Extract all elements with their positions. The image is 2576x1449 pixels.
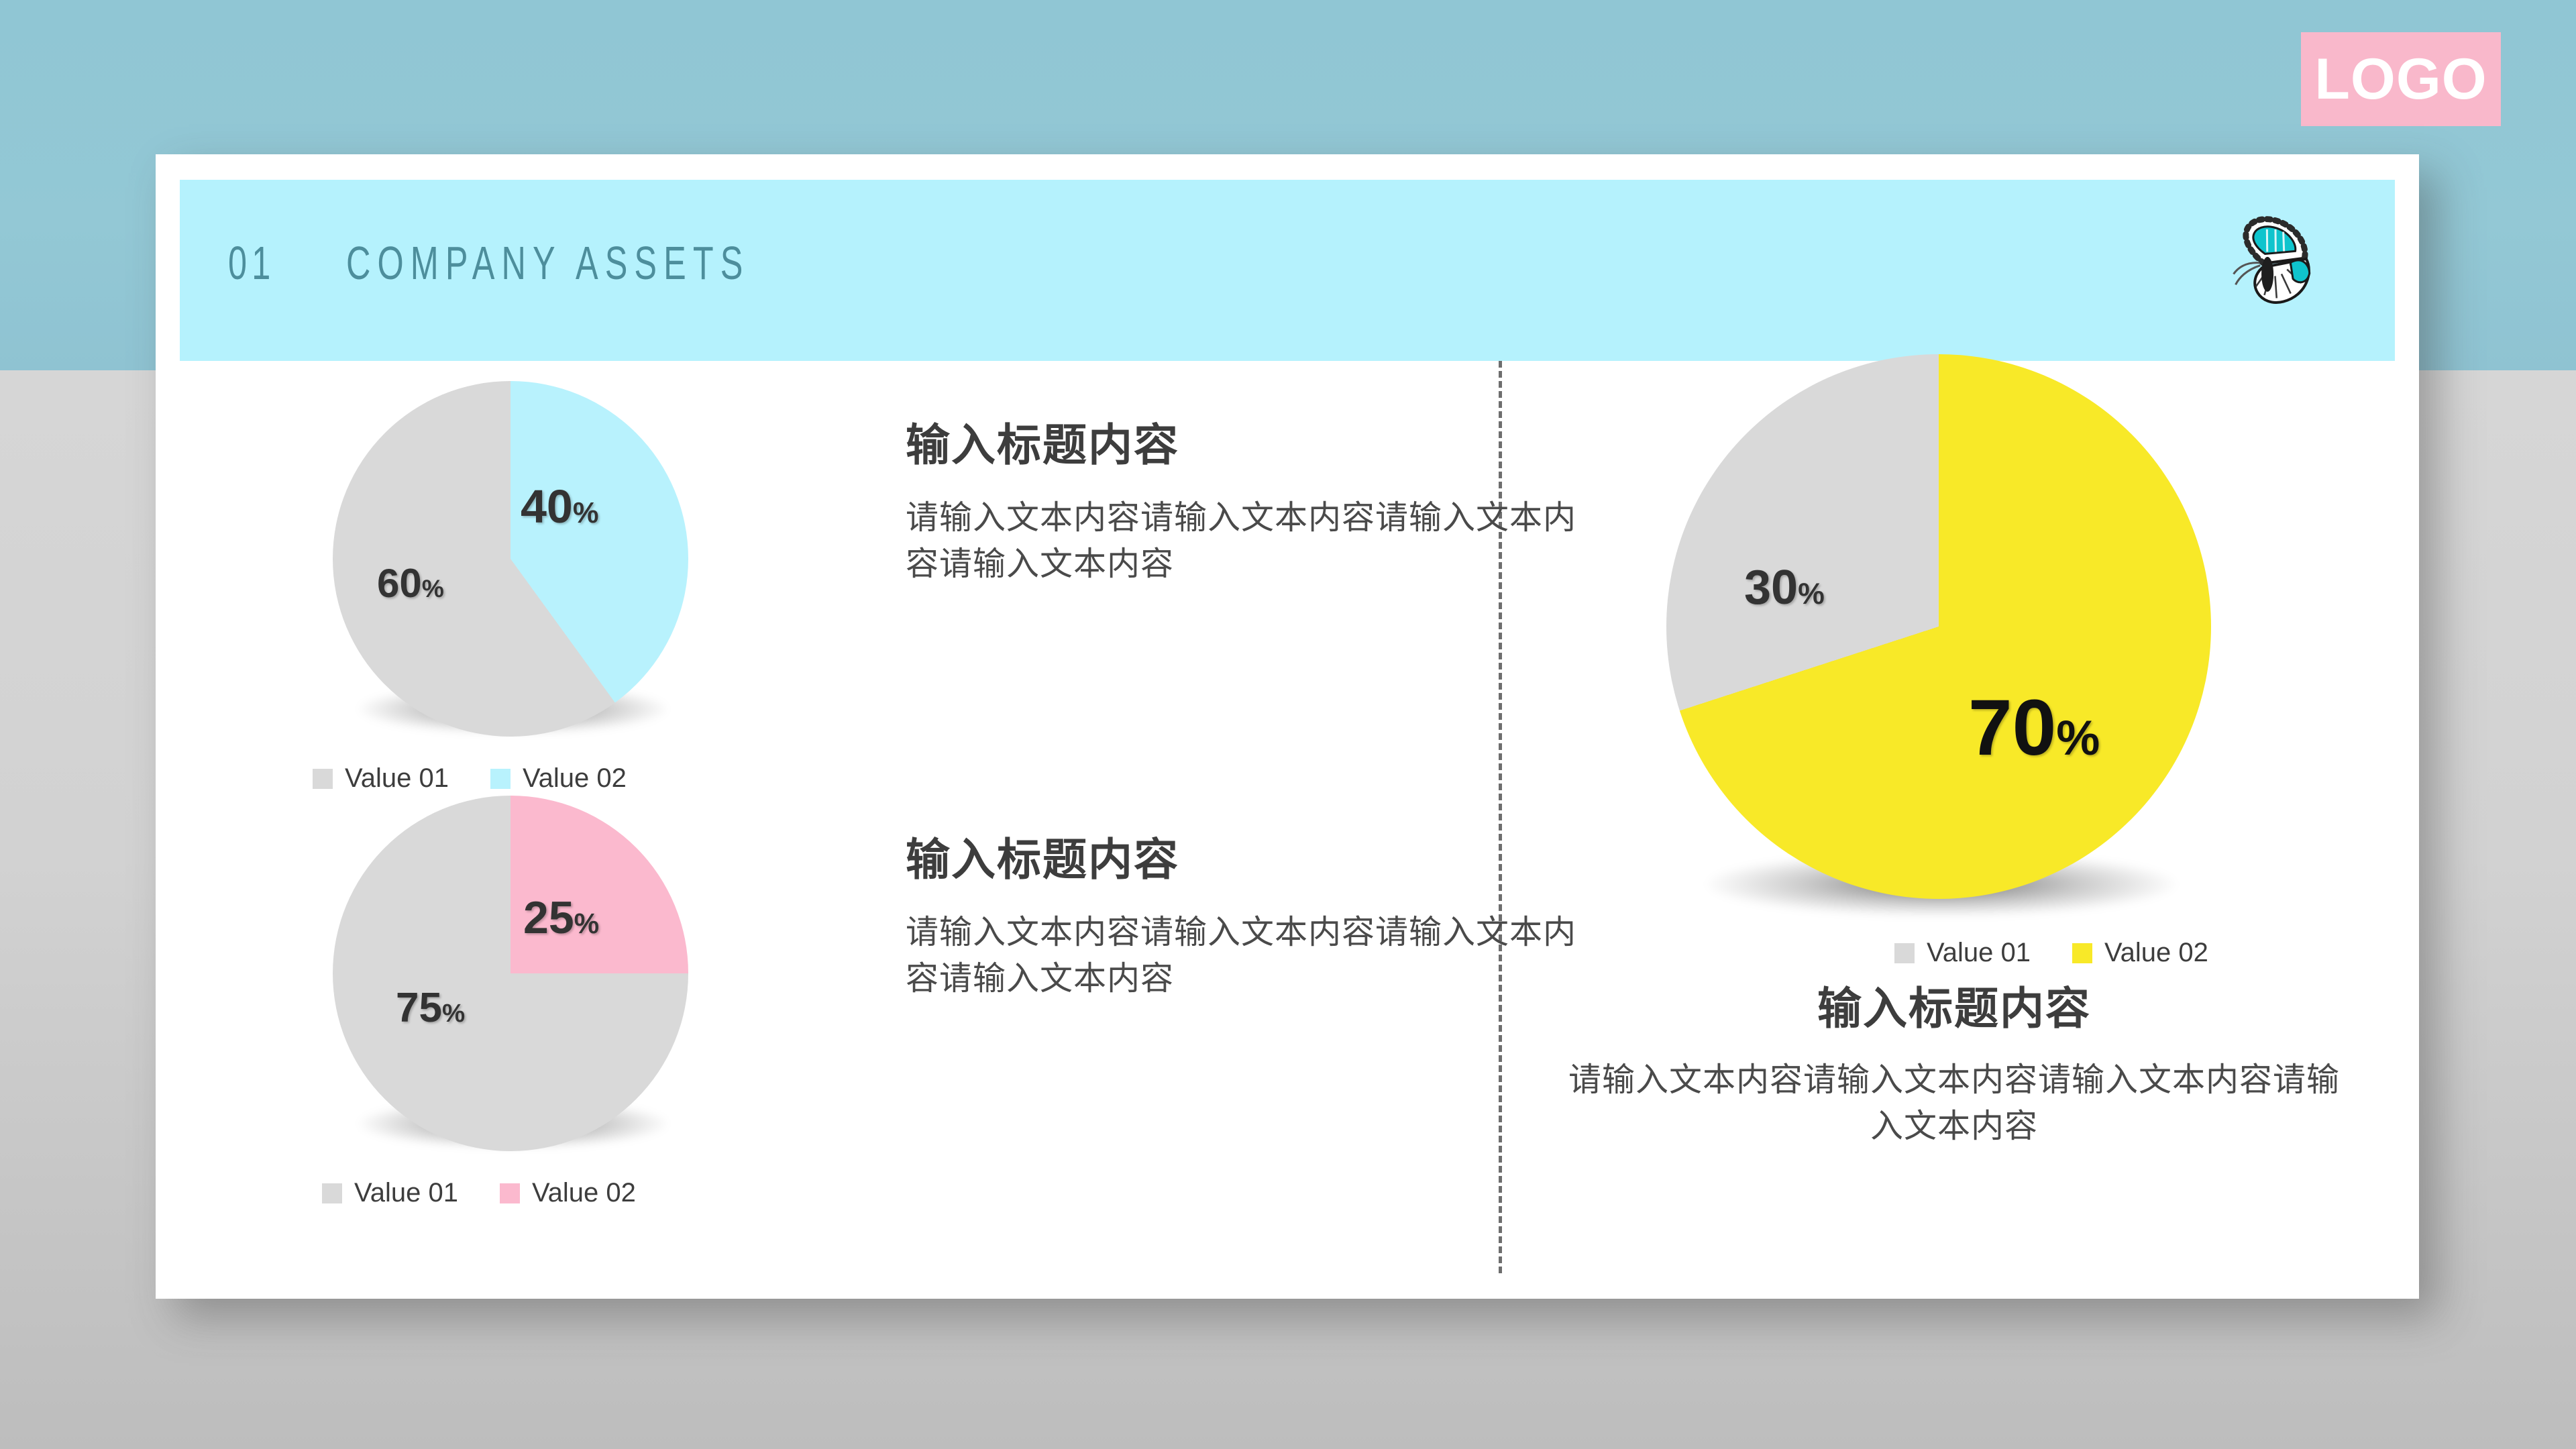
text-block-body: 请输入文本内容请输入文本内容请输入文本内容请输入文本内容 (906, 494, 1590, 588)
pie-legend-right-large: Value 01 Value 02 (1894, 938, 2208, 968)
pie-slice-label-value01: 60% (377, 563, 444, 604)
legend-label-value02: Value 02 (2104, 938, 2208, 968)
legend-swatch-value01 (313, 769, 333, 789)
text-block-body: 请输入文本内容请输入文本内容请输入文本内容请输入文本内容 (1555, 1057, 2353, 1150)
text-block-title: 输入标题内容 (906, 836, 1590, 885)
legend-item-value01[interactable]: Value 01 (322, 1178, 458, 1208)
pie-slice-label-value02: 25% (523, 895, 599, 941)
legend-label-value01: Value 01 (345, 763, 449, 794)
pie-chart-top-left: 40% 60% (333, 381, 695, 743)
pie-chart-bottom-left: 25% 75% (333, 796, 695, 1158)
legend-swatch-value01 (322, 1183, 342, 1203)
butterfly-icon (2203, 195, 2337, 329)
section-number: 01 (228, 236, 275, 290)
legend-label-value01: Value 01 (1927, 938, 2031, 968)
legend-item-value01[interactable]: Value 01 (313, 763, 449, 794)
pie-slice-unit: % (573, 497, 599, 529)
pie-slice-value: 25 (523, 892, 574, 943)
text-block-right: 输入标题内容 请输入文本内容请输入文本内容请输入文本内容请输入文本内容 (1555, 985, 2353, 1150)
pie-slice-label-value02: 40% (521, 483, 598, 530)
text-block-body: 请输入文本内容请输入文本内容请输入文本内容请输入文本内容 (906, 909, 1590, 1002)
legend-swatch-value02 (490, 769, 511, 789)
pie-slice-unit: % (574, 908, 599, 939)
legend-swatch-value01 (1894, 943, 1915, 963)
text-block-title: 输入标题内容 (906, 421, 1590, 470)
legend-label-value01: Value 01 (354, 1178, 458, 1208)
pie-graphic (333, 381, 688, 737)
legend-label-value02: Value 02 (532, 1178, 636, 1208)
legend-item-value02[interactable]: Value 02 (2072, 938, 2208, 968)
pie-slice-value: 40 (521, 480, 573, 533)
pie-slice-value: 75 (396, 985, 442, 1031)
text-block-bottom-left: 输入标题内容 请输入文本内容请输入文本内容请输入文本内容请输入文本内容 (906, 836, 1590, 1002)
pie-slice-unit: % (422, 574, 444, 602)
slide-card: 01 COMPANY ASSETS (156, 154, 2419, 1299)
legend-swatch-value02 (500, 1183, 520, 1203)
text-block-top-left: 输入标题内容 请输入文本内容请输入文本内容请输入文本内容请输入文本内容 (906, 421, 1590, 588)
pie-slice-label-value01: 30% (1744, 563, 1825, 612)
pie-slice-unit: % (1798, 578, 1825, 610)
logo-badge: LOGO (2301, 32, 2501, 126)
section-header-bar: 01 COMPANY ASSETS (180, 180, 2395, 361)
legend-item-value02[interactable]: Value 02 (500, 1178, 636, 1208)
pie-slice-unit: % (2056, 710, 2100, 765)
legend-swatch-value02 (2072, 943, 2092, 963)
legend-item-value01[interactable]: Value 01 (1894, 938, 2031, 968)
slide-body: 40% 60% Value 01 Value 02 输入标题内容 (180, 361, 2395, 1273)
pie-legend-bottom-left: Value 01 Value 02 (322, 1178, 636, 1208)
logo-text: LOGO (2314, 50, 2487, 108)
pie-slice-label-value02: 70% (1968, 688, 2100, 767)
pie-graphic (333, 796, 688, 1151)
pie-graphic (1666, 354, 2211, 899)
slide-inner-panel: 01 COMPANY ASSETS (180, 180, 2395, 1273)
pie-slice-label-value01: 75% (396, 987, 465, 1029)
pie-slice-value: 60 (377, 561, 422, 606)
pie-slice-unit: % (442, 999, 465, 1028)
legend-item-value02[interactable]: Value 02 (490, 763, 627, 794)
text-block-title: 输入标题内容 (1555, 985, 2353, 1034)
section-title: COMPANY ASSETS (346, 236, 749, 290)
pie-legend-top-left: Value 01 Value 02 (313, 763, 627, 794)
pie-slice-value: 70 (1968, 684, 2056, 772)
pie-chart-right-large: 30% 70% (1666, 354, 2223, 911)
pie-slice-value: 30 (1744, 561, 1798, 614)
legend-label-value02: Value 02 (523, 763, 627, 794)
